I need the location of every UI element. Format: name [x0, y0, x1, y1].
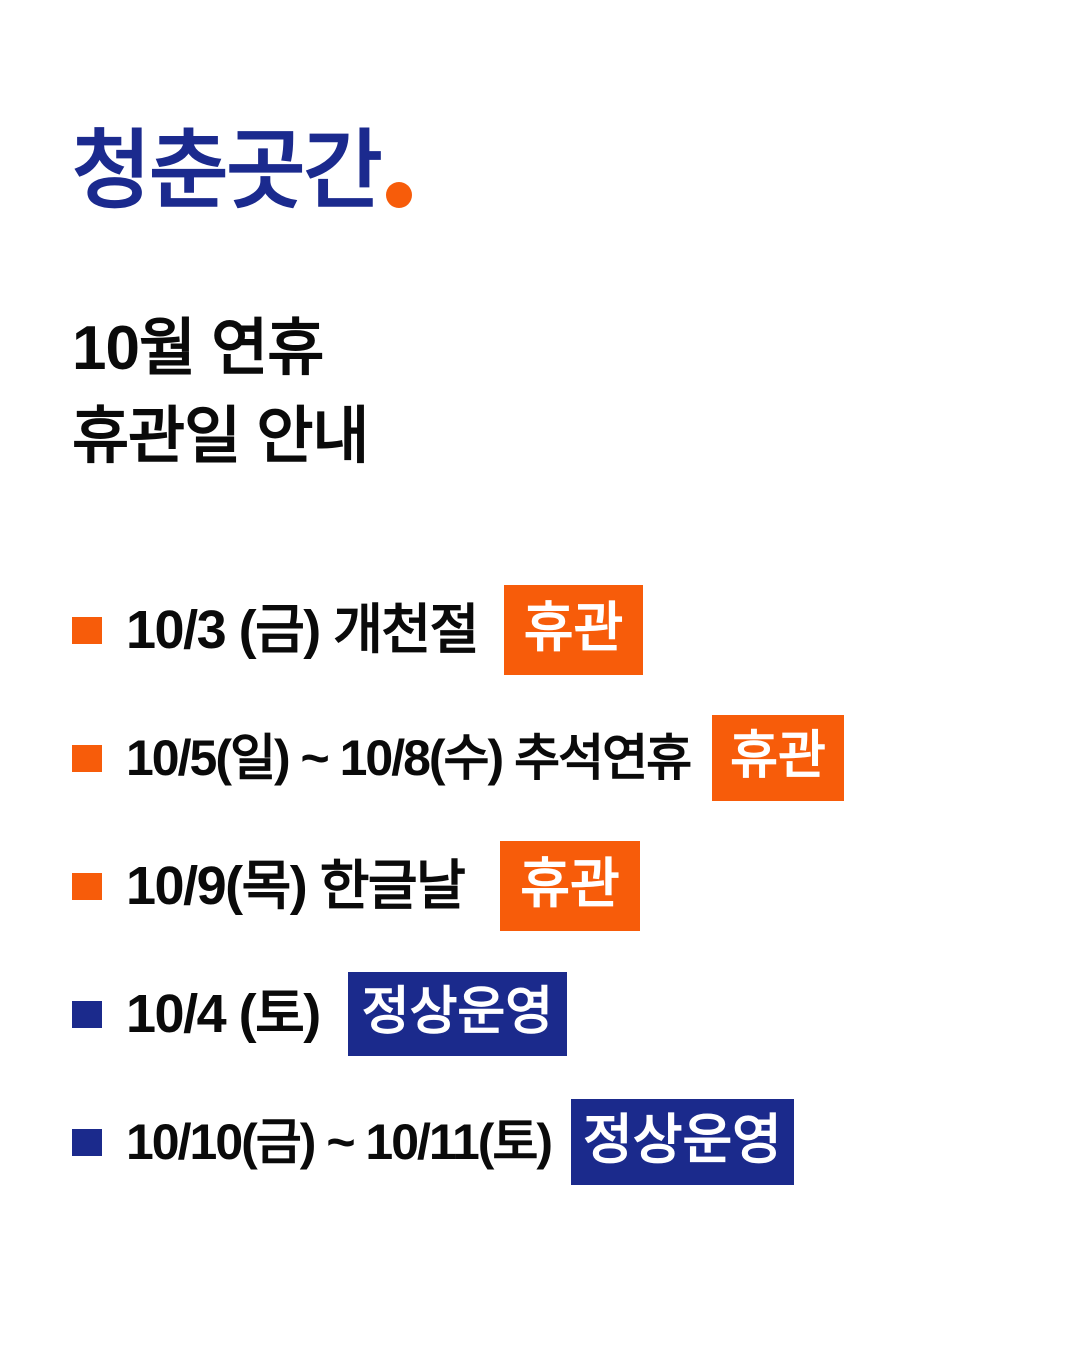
list-item: 10/10(금) ~ 10/11(토) 정상운영: [72, 1078, 1080, 1206]
bullet-square-icon: [72, 1001, 102, 1028]
status-badge: 정상운영: [571, 1099, 794, 1185]
notice-date-label: 10/3 (금) 개천절: [126, 603, 478, 657]
page-title: 10월 연휴 휴관일 안내: [72, 305, 368, 481]
list-item: 10/9(목) 한글날 휴관: [72, 822, 1080, 950]
notice-date-label: 10/4 (토): [126, 987, 320, 1041]
status-badge: 휴관: [500, 841, 639, 931]
page-title-line-1: 10월 연휴: [72, 305, 368, 393]
notice-date-label: 10/10(금) ~ 10/11(토): [126, 1117, 551, 1167]
list-item: 10/5(일) ~ 10/8(수) 추석연휴 휴관: [72, 694, 1080, 822]
bullet-square-icon: [72, 617, 102, 644]
notice-date-label: 10/9(목) 한글날: [126, 859, 464, 913]
status-badge: 정상운영: [348, 972, 567, 1056]
brand-logo: 청춘곳간: [72, 128, 412, 214]
page-title-line-2: 휴관일 안내: [72, 393, 368, 481]
bullet-square-icon: [72, 1129, 102, 1156]
notice-date-label: 10/5(일) ~ 10/8(수) 추석연휴: [126, 733, 690, 783]
bullet-square-icon: [72, 745, 102, 772]
list-item: 10/4 (토) 정상운영: [72, 950, 1080, 1078]
brand-name: 청춘곳간: [72, 128, 380, 214]
list-item: 10/3 (금) 개천절 휴관: [72, 566, 1080, 694]
holiday-notice-poster: 청춘곳간 10월 연휴 휴관일 안내 10/3 (금) 개천절 휴관 10/5(…: [0, 0, 1080, 1350]
status-badge: 휴관: [504, 585, 643, 675]
status-badge: 휴관: [712, 715, 844, 801]
notice-list: 10/3 (금) 개천절 휴관 10/5(일) ~ 10/8(수) 추석연휴 휴…: [72, 566, 1080, 1206]
bullet-square-icon: [72, 873, 102, 900]
brand-dot-icon: [386, 182, 412, 208]
